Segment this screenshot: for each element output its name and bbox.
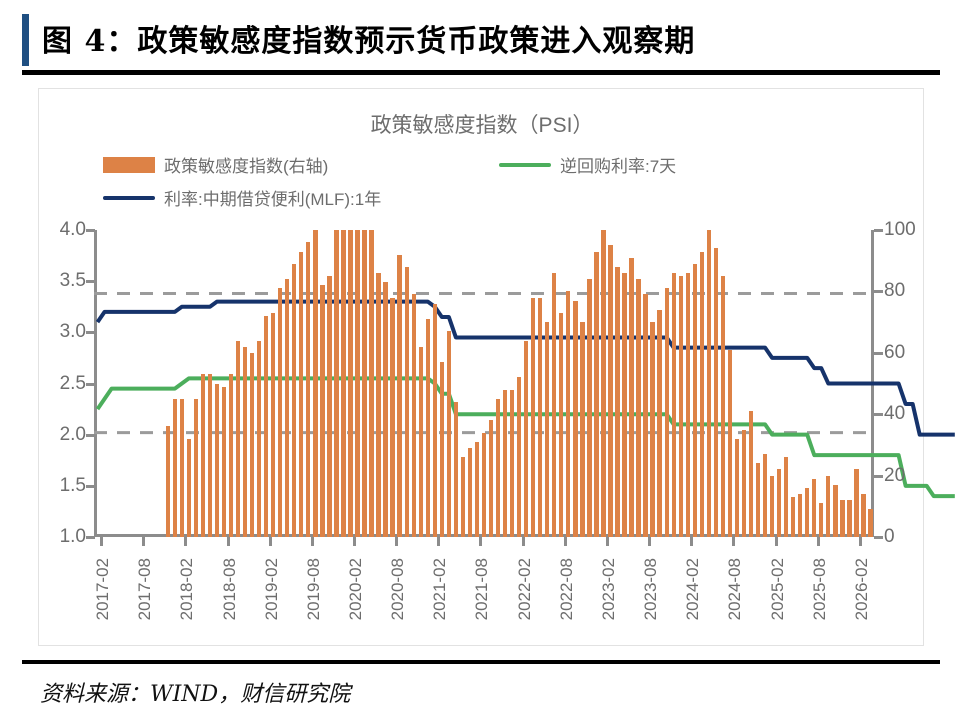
- bar: [475, 442, 479, 537]
- bar: [847, 500, 851, 537]
- bar: [334, 230, 338, 537]
- bar: [566, 291, 570, 537]
- legend-item-mlf[interactable]: 利率:中期借贷便利(MLF):1年: [103, 185, 381, 210]
- bar: [826, 476, 830, 537]
- x-tick: [732, 537, 735, 546]
- bar: [236, 341, 240, 537]
- legend-label-mlf: 利率:中期借贷便利(MLF):1年: [164, 185, 381, 210]
- x-tick: [564, 537, 567, 546]
- x-tick: [311, 537, 314, 546]
- bar: [397, 255, 401, 537]
- legend-swatch-bar-icon: [103, 157, 155, 173]
- bar: [601, 230, 605, 537]
- bar: [861, 494, 865, 537]
- x-tick: [690, 537, 693, 546]
- bar: [742, 430, 746, 537]
- bar: [636, 279, 640, 537]
- bar: [426, 319, 430, 537]
- bar: [271, 313, 275, 537]
- page-title: 图 4：政策敏感度指数预示货币政策进入观察期: [42, 16, 695, 60]
- bar: [278, 288, 282, 537]
- bar: [243, 347, 247, 537]
- x-axis-label: 2022-02: [515, 558, 535, 620]
- y-axis-right-label: 80: [884, 280, 905, 302]
- y-axis-left-label: 3.0: [60, 321, 86, 343]
- x-tick: [437, 537, 440, 546]
- bar: [805, 488, 809, 537]
- x-axis-label: 2022-08: [557, 558, 577, 620]
- bar: [538, 298, 542, 537]
- bar: [447, 331, 451, 537]
- bar: [412, 294, 416, 537]
- x-axis-label: 2017-02: [93, 558, 113, 620]
- bar: [833, 485, 837, 537]
- chart-container: 政策敏感度指数（PSI） 政策敏感度指数(右轴) 逆回购利率:7天 利率:中期借…: [38, 88, 924, 646]
- bar: [482, 433, 486, 537]
- bar: [840, 500, 844, 537]
- bar: [580, 322, 584, 537]
- bar: [383, 282, 387, 537]
- bar: [348, 230, 352, 537]
- bar: [341, 230, 345, 537]
- bar: [313, 230, 317, 537]
- bar: [215, 384, 219, 538]
- footer-divider: [22, 660, 940, 664]
- x-axis-label: 2026-02: [852, 558, 872, 620]
- bar: [222, 387, 226, 537]
- source-note: 资料来源：WIND，财信研究院: [40, 676, 350, 708]
- x-axis-label: 2021-02: [430, 558, 450, 620]
- legend-item-psi[interactable]: 政策敏感度指数(右轴): [103, 152, 328, 177]
- bar: [496, 399, 500, 537]
- x-axis-label: 2020-02: [346, 558, 366, 620]
- bar: [657, 310, 661, 537]
- x-axis-label: 2024-02: [683, 558, 703, 620]
- bar: [812, 479, 816, 537]
- bar: [419, 347, 423, 537]
- bar: [552, 273, 556, 537]
- x-axis-label: 2018-02: [177, 558, 197, 620]
- bar: [524, 341, 528, 537]
- bar: [320, 285, 324, 537]
- bar: [559, 313, 563, 537]
- x-tick: [648, 537, 651, 546]
- bar: [615, 267, 619, 537]
- y-tick-right: [874, 475, 883, 478]
- y-tick-left: [86, 536, 95, 539]
- header-divider: [22, 70, 940, 75]
- bar: [299, 252, 303, 538]
- bar: [355, 230, 359, 537]
- bar: [166, 426, 170, 537]
- bar: [369, 230, 373, 537]
- bar: [454, 402, 458, 537]
- bar: [440, 362, 444, 537]
- bar: [187, 439, 191, 537]
- bar: [503, 390, 507, 537]
- bar: [362, 230, 366, 537]
- x-axis-label: 2018-08: [220, 558, 240, 620]
- y-tick-right: [874, 290, 883, 293]
- x-tick: [395, 537, 398, 546]
- bar: [180, 399, 184, 537]
- y-tick-left: [86, 383, 95, 386]
- x-axis-label: 2023-02: [599, 558, 619, 620]
- bar: [672, 273, 676, 537]
- bar: [433, 304, 437, 537]
- y-tick-right: [874, 413, 883, 416]
- x-axis-label: 2021-08: [472, 558, 492, 620]
- x-tick: [142, 537, 145, 546]
- bar: [707, 230, 711, 537]
- y-tick-right: [874, 536, 883, 539]
- bar: [264, 316, 268, 537]
- bar: [489, 420, 493, 537]
- legend-swatch-line-navy-icon: [103, 196, 155, 200]
- bar: [819, 503, 823, 537]
- bar: [728, 350, 732, 537]
- bar: [292, 264, 296, 537]
- x-tick: [227, 537, 230, 546]
- bar: [643, 294, 647, 537]
- bar: [531, 298, 535, 537]
- x-axis-label: 2025-08: [810, 558, 830, 620]
- bar: [735, 439, 739, 537]
- bar: [285, 279, 289, 537]
- x-tick: [479, 537, 482, 546]
- legend-label-psi: 政策敏感度指数(右轴): [164, 152, 328, 177]
- y-tick-left: [86, 331, 95, 334]
- bar: [306, 242, 310, 537]
- bar: [510, 390, 514, 537]
- bar: [622, 273, 626, 537]
- bar: [250, 353, 254, 537]
- bar: [686, 273, 690, 537]
- x-axis-label: 2023-08: [641, 558, 661, 620]
- x-tick: [775, 537, 778, 546]
- title-accent-rule: [22, 14, 29, 66]
- bar: [390, 298, 394, 537]
- y-tick-left: [86, 229, 95, 232]
- bar: [798, 494, 802, 537]
- chart-title: 政策敏感度指数（PSI）: [39, 109, 925, 139]
- bar: [573, 301, 577, 537]
- bar: [665, 288, 669, 537]
- x-tick: [100, 537, 103, 546]
- x-axis-label: 2017-08: [135, 558, 155, 620]
- y-tick-right: [874, 352, 883, 355]
- legend-swatch-line-green-icon: [499, 163, 551, 167]
- bar: [594, 252, 598, 538]
- bar: [784, 457, 788, 537]
- y-axis-right-label: 40: [884, 403, 905, 425]
- bar: [777, 469, 781, 537]
- y-axis-right-label: 100: [884, 219, 916, 241]
- bar: [194, 399, 198, 537]
- x-tick: [817, 537, 820, 546]
- bar: [327, 276, 331, 537]
- x-tick: [606, 537, 609, 546]
- legend-item-reverse-repo[interactable]: 逆回购利率:7天: [499, 152, 676, 177]
- x-axis-label: 2020-08: [388, 558, 408, 620]
- y-tick-left: [86, 280, 95, 283]
- bar: [854, 469, 858, 537]
- y-tick-left: [86, 434, 95, 437]
- x-tick: [522, 537, 525, 546]
- bar: [679, 276, 683, 537]
- x-tick: [269, 537, 272, 546]
- bar: [721, 276, 725, 537]
- bar: [608, 245, 612, 537]
- x-axis-label: 2025-02: [768, 558, 788, 620]
- x-tick: [184, 537, 187, 546]
- bar: [587, 279, 591, 537]
- bar: [468, 448, 472, 537]
- bar: [763, 454, 767, 537]
- y-axis-left-label: 2.0: [60, 424, 86, 446]
- bar: [629, 258, 633, 537]
- x-axis-label: 2019-02: [262, 558, 282, 620]
- bar: [173, 399, 177, 537]
- y-tick-left: [86, 485, 95, 488]
- bar: [405, 267, 409, 537]
- y-axis-left-label: 3.5: [60, 270, 86, 292]
- bar: [693, 264, 697, 537]
- y-axis-left-label: 2.5: [60, 373, 86, 395]
- y-axis-left-label: 1.0: [60, 526, 86, 548]
- bar: [376, 273, 380, 537]
- bar: [461, 457, 465, 537]
- x-axis-label: 2024-08: [725, 558, 745, 620]
- bar: [517, 377, 521, 537]
- bar: [229, 374, 233, 537]
- bar: [714, 248, 718, 537]
- bar: [868, 509, 872, 537]
- x-axis-label: 2019-08: [304, 558, 324, 620]
- chart-legend: 政策敏感度指数(右轴) 逆回购利率:7天 利率:中期借贷便利(MLF):1年: [39, 151, 925, 211]
- bar: [749, 411, 753, 537]
- figure-page: 图 4：政策敏感度指数预示货币政策进入观察期 政策敏感度指数（PSI） 政策敏感…: [0, 0, 963, 720]
- plot-area: 1.01.52.02.53.03.54.00204060801002017-02…: [94, 230, 874, 537]
- bar: [650, 322, 654, 537]
- bar: [791, 497, 795, 537]
- y-axis-right-label: 0: [884, 526, 895, 548]
- y-axis-right-label: 60: [884, 342, 905, 364]
- x-tick: [859, 537, 862, 546]
- y-axis-left-label: 1.5: [60, 475, 86, 497]
- bar: [700, 252, 704, 538]
- bar: [201, 374, 205, 537]
- x-tick: [353, 537, 356, 546]
- y-tick-right: [874, 229, 883, 232]
- bar: [770, 476, 774, 537]
- legend-label-reverse-repo: 逆回购利率:7天: [560, 152, 676, 177]
- bar: [208, 374, 212, 537]
- bar: [756, 463, 760, 537]
- bar: [257, 341, 261, 537]
- y-axis-right-label: 20: [884, 465, 905, 487]
- bar: [545, 322, 549, 537]
- y-axis-left-label: 4.0: [60, 219, 86, 241]
